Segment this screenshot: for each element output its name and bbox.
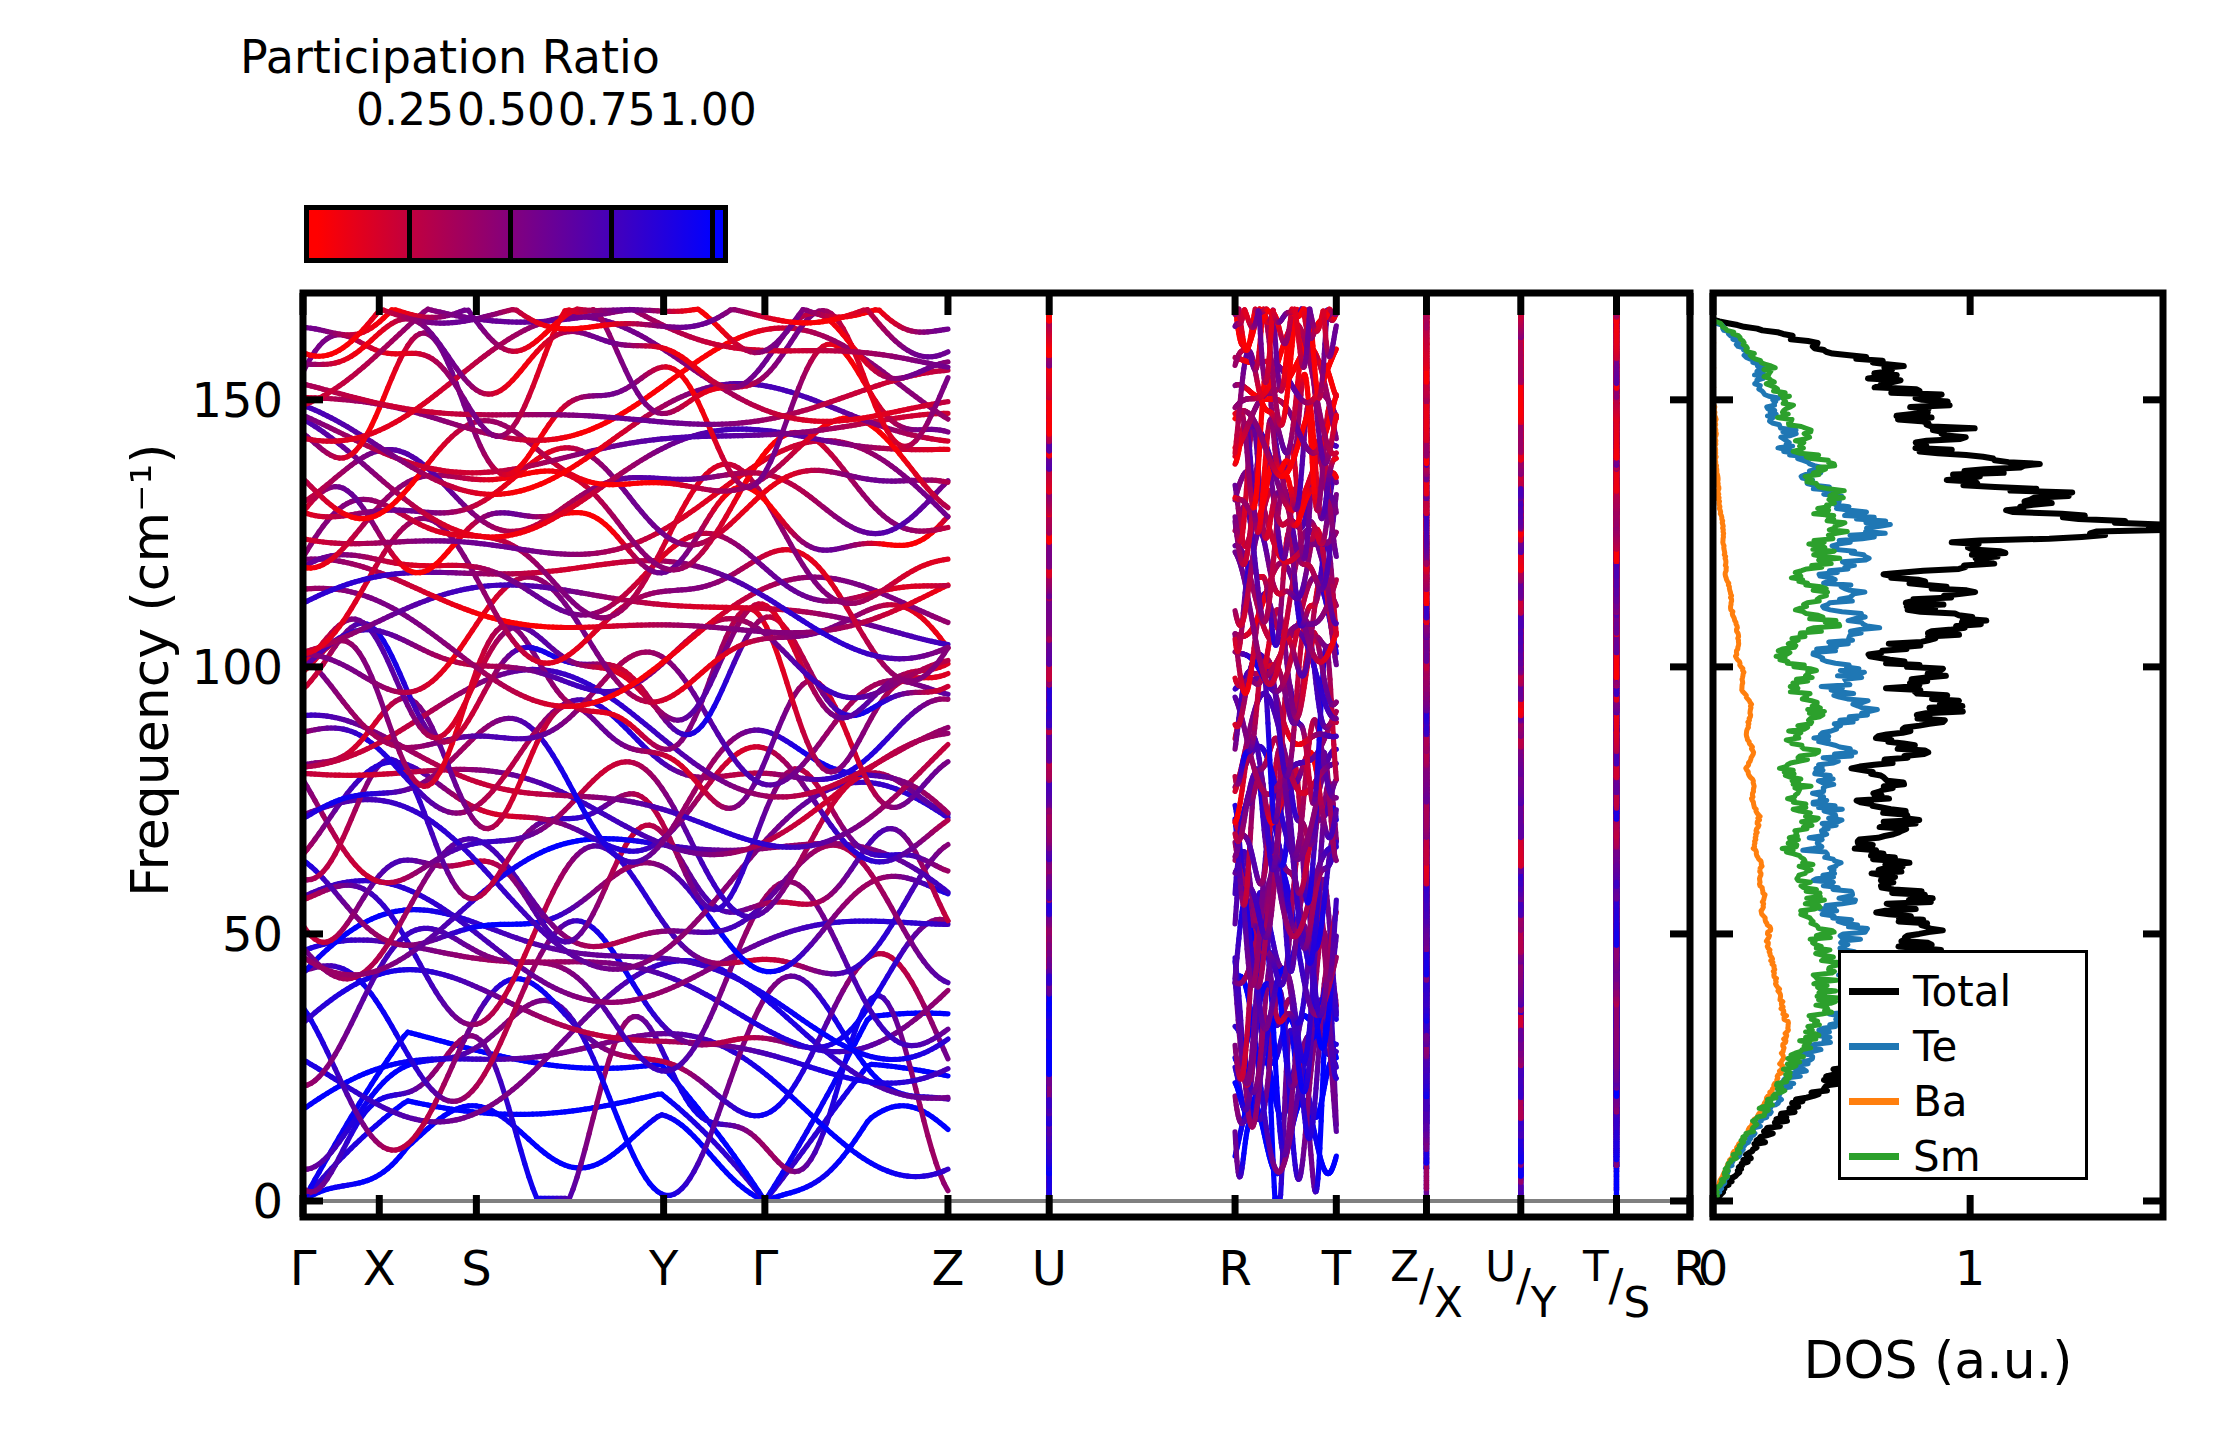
y-tick-label: 100 — [83, 639, 283, 695]
x-tick-label: U/Y — [1485, 1242, 1556, 1327]
x-tick-label: Γ — [751, 1240, 778, 1296]
legend-item: Ba — [1849, 1073, 1968, 1130]
legend-swatch-total — [1849, 988, 1899, 995]
legend-swatch-sm — [1849, 1153, 1899, 1160]
x-tick-label: R — [1218, 1240, 1251, 1296]
y-tick-label: 50 — [83, 906, 283, 962]
x-tick-label: Γ — [290, 1240, 317, 1296]
x-tick-label: Z/X — [1390, 1242, 1462, 1327]
x-tick-label: T/S — [1583, 1242, 1650, 1327]
legend-swatch-ba — [1849, 1098, 1899, 1105]
legend-item: Te — [1849, 1018, 1957, 1075]
dos-tick-label: 0 — [1698, 1240, 1729, 1296]
x-tick-label: X — [363, 1240, 396, 1296]
phonon-figure: Participation Ratio 0.250.500.751.00 Fre… — [0, 0, 2222, 1455]
x-tick-label: Y — [649, 1240, 678, 1296]
y-tick-label: 0 — [83, 1173, 283, 1229]
legend-item: Total — [1849, 963, 2011, 1020]
y-tick-label: 150 — [83, 372, 283, 428]
x-tick-label: U — [1032, 1240, 1067, 1296]
x-tick-label: Z — [932, 1240, 965, 1296]
dos-legend: TotalTeBaSm — [1838, 950, 2088, 1180]
x-tick-label: T — [1322, 1240, 1351, 1296]
legend-label: Ba — [1913, 1081, 1968, 1123]
x-tick-label: S — [461, 1240, 491, 1296]
legend-label: Total — [1913, 971, 2011, 1013]
legend-swatch-te — [1849, 1043, 1899, 1050]
legend-item: Sm — [1849, 1128, 1981, 1185]
dos-axis-label: DOS (a.u.) — [1653, 1330, 2222, 1390]
legend-label: Sm — [1913, 1136, 1981, 1178]
plot-canvas — [0, 0, 2222, 1455]
band-structure-curves — [303, 309, 1690, 1201]
dos-tick-label: 1 — [1955, 1240, 1986, 1296]
legend-label: Te — [1913, 1026, 1957, 1068]
